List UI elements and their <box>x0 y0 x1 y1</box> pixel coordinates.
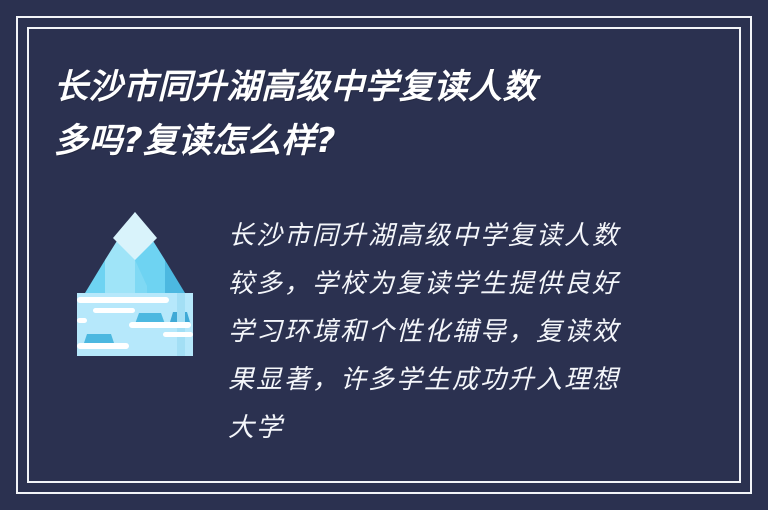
page-title: 长沙市同升湖高级中学复读人数 多吗?复读怎么样? <box>54 60 694 168</box>
article-body: 长沙市同升湖高级中学复读人数 较多，学校为复读学生提供良好 学习环境和个性化辅导… <box>228 212 660 452</box>
body-line-3: 学习环境和个性化辅导，复读效 <box>228 308 660 356</box>
body-line-5: 大学 <box>228 404 660 452</box>
title-line-2: 多吗?复读怎么样? <box>54 114 694 168</box>
title-line-1: 长沙市同升湖高级中学复读人数 <box>54 60 694 114</box>
body-line-1: 长沙市同升湖高级中学复读人数 <box>228 212 660 260</box>
article-cover-card: 长沙市同升湖高级中学复读人数 多吗?复读怎么样? <box>0 0 768 510</box>
iceberg-illustration <box>77 198 193 356</box>
body-line-2: 较多，学校为复读学生提供良好 <box>228 260 660 308</box>
body-line-4: 果显著，许多学生成功升入理想 <box>228 356 660 404</box>
iceberg-icon <box>77 198 193 356</box>
